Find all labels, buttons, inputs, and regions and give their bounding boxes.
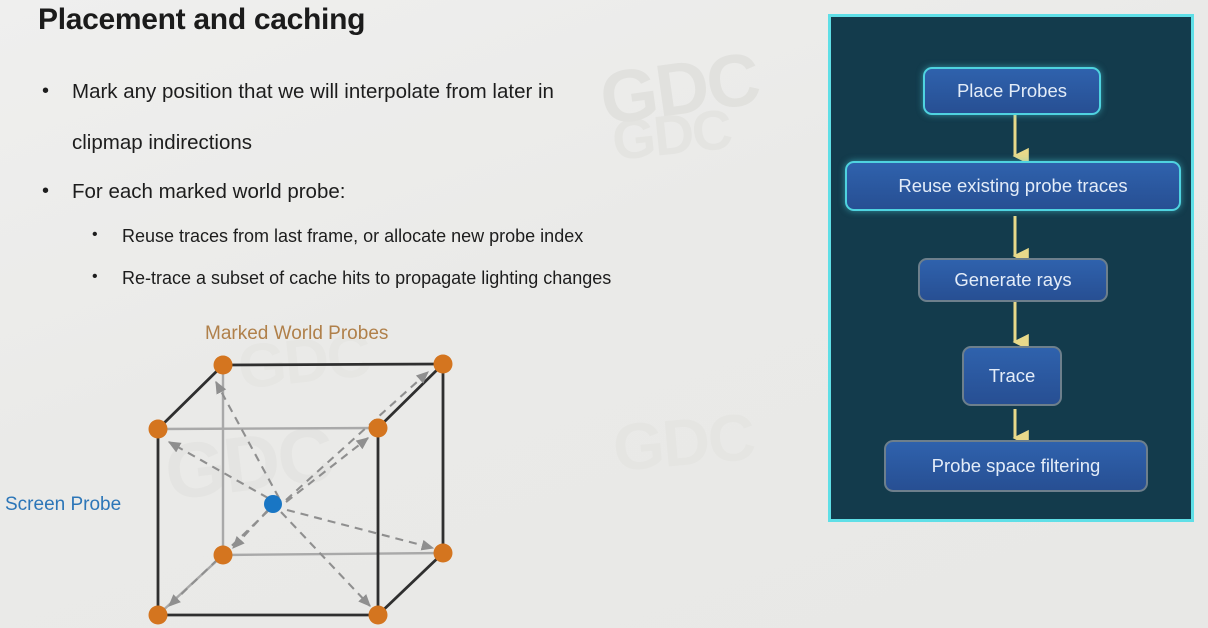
bullet-text: Reuse traces from last frame, or allocat… xyxy=(122,226,583,247)
watermark-logo: GDC xyxy=(595,35,764,141)
pipeline-flow-panel: Place Probes Reuse existing probe traces… xyxy=(828,14,1194,522)
marked-world-probe xyxy=(369,419,388,438)
probe-ray xyxy=(286,438,368,502)
slide-title: Placement and caching xyxy=(38,3,365,37)
flow-step-trace[interactable]: Trace xyxy=(962,346,1062,406)
marked-world-probe xyxy=(149,420,168,439)
bullet-item: clipmap indirections xyxy=(42,131,252,155)
watermark-logo: GDC xyxy=(610,398,757,486)
marked-world-probe xyxy=(369,606,388,625)
marked-world-probe xyxy=(214,546,233,565)
flow-step-label: Generate rays xyxy=(954,269,1071,291)
flow-step-label: Trace xyxy=(989,365,1036,387)
bullet-text: Re-trace a subset of cache hits to propa… xyxy=(122,268,611,289)
marked-world-probe xyxy=(434,544,453,563)
flow-step-label: Probe space filtering xyxy=(932,455,1101,477)
flow-step-label: Reuse existing probe traces xyxy=(898,175,1127,197)
bullet-marker: • xyxy=(92,268,98,286)
probe-ray xyxy=(281,512,370,606)
marked-world-probe xyxy=(149,606,168,625)
marked-world-probe xyxy=(214,356,233,375)
cube-svg xyxy=(0,310,520,628)
slide-canvas: GDC GDC GDC GDC GDC Placement and cachin… xyxy=(0,0,1208,628)
bullet-marker: • xyxy=(42,180,49,203)
probe-cube-diagram xyxy=(0,310,520,628)
flow-step-label: Place Probes xyxy=(957,80,1067,102)
bullet-marker: • xyxy=(42,80,49,103)
probe-ray-group xyxy=(169,372,433,606)
probe-ray xyxy=(286,372,428,500)
probe-ray xyxy=(169,442,268,498)
bullet-item: • Mark any position that we will interpo… xyxy=(42,80,554,104)
bullet-item: • Re-trace a subset of cache hits to pro… xyxy=(92,268,611,289)
probe-ray xyxy=(216,382,279,498)
bullet-item: • Reuse traces from last frame, or alloc… xyxy=(92,226,583,247)
flow-step-generate-rays[interactable]: Generate rays xyxy=(918,258,1108,302)
probe-ray xyxy=(287,510,433,548)
flow-step-place-probes[interactable]: Place Probes xyxy=(923,67,1101,115)
bullet-item: • For each marked world probe: xyxy=(42,180,345,204)
screen-probe-dot xyxy=(264,495,282,513)
watermark-logo: GDC xyxy=(609,96,734,173)
bullet-marker: • xyxy=(92,226,98,244)
flow-step-probe-space-filtering[interactable]: Probe space filtering xyxy=(884,440,1148,492)
bullet-text: For each marked world probe: xyxy=(72,180,345,204)
bullet-text: clipmap indirections xyxy=(72,131,252,155)
flow-step-reuse-existing-probe-traces[interactable]: Reuse existing probe traces xyxy=(845,161,1181,211)
bullet-text: Mark any position that we will interpola… xyxy=(72,80,554,104)
marked-world-probe xyxy=(434,355,453,374)
